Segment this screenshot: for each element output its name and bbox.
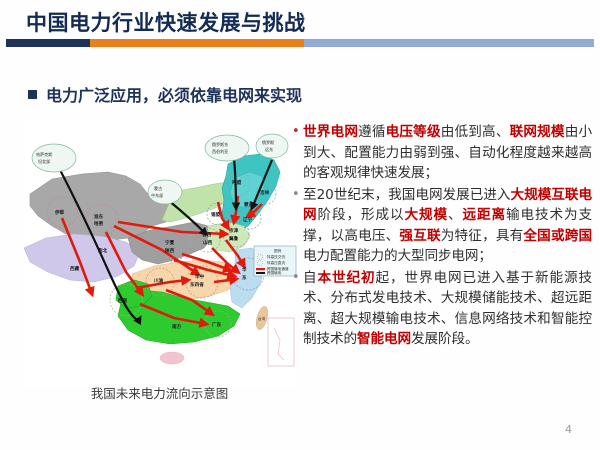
accent-bar-orange	[90, 39, 304, 47]
section-heading: 电力广泛应用，必须依靠电网来实现	[28, 82, 302, 106]
text-run: 、	[448, 207, 463, 223]
map-label-northwest: 西北	[98, 247, 108, 254]
map-label-southwest: 西南	[118, 297, 128, 304]
content-text-column: •世界电网遵循电压等级由低到高、联网规模由小到大、配置能力由弱到强、自动化程度越…	[292, 122, 592, 351]
map-label-kazakhstan2: 坦北部	[38, 158, 50, 164]
map-label-shanxi: 山西	[203, 239, 213, 246]
slide-root: 中国电力行业快速发展与挑战 电力广泛应用，必须依靠电网来实现	[0, 0, 600, 450]
map-label-tibet: 西藏	[70, 265, 80, 272]
legend-title: 图例	[274, 248, 282, 253]
paragraph-bullet-icon: •	[292, 122, 303, 184]
highlight-run: 世界电网	[303, 124, 358, 140]
map-label-liaoning: 辽宁	[243, 216, 253, 223]
section-heading-label: 电力广泛应用，必须依靠电网来实现	[46, 82, 302, 106]
callout-russia-siberia	[205, 135, 249, 161]
text-run: 至20世纪末，我国电网发展已进入	[303, 187, 511, 203]
content-paragraph: •自本世纪初起，世界电网已进入基于新能源技术、分布式发电技术、大规模储能技术、超…	[292, 268, 592, 350]
highlight-run: 强互联	[399, 228, 440, 244]
map-label-zhundong: 准东	[94, 213, 104, 220]
text-run: 由低到高、	[441, 124, 510, 140]
highlight-run: 联网规模	[510, 124, 565, 140]
china-power-flow-map: 台湾	[22, 122, 297, 387]
map-label-dongsisheng: 东四省	[190, 281, 204, 288]
map-legend: 图例 特高压交流 特高压直流 跨国输电通道 跨国输电	[254, 246, 296, 276]
highlight-run: 电压等级	[386, 124, 441, 140]
map-label-southern: 南方	[172, 323, 182, 330]
map-label-mengdong: 蒙东	[244, 201, 254, 208]
map-graphic: 台湾	[22, 122, 297, 387]
map-label-huazhong: 华中	[195, 273, 205, 280]
text-run: 电力配置能力的大型同步电网；	[303, 248, 492, 264]
map-label-jilu: 冀鲁	[229, 235, 239, 242]
legend-item-1: 特高压直流	[267, 260, 285, 265]
map-caption: 我国未来电力流向示意图	[22, 383, 297, 402]
callout-russia-fareast	[256, 134, 288, 158]
map-label-humeng: 呼盟	[232, 179, 242, 186]
map-label-ningxia: 宁夏	[165, 239, 175, 246]
highlight-run: 远距离	[463, 207, 507, 223]
map-label-guangdong: 广东	[212, 321, 222, 328]
highlight-run: 全国或跨国	[523, 228, 592, 244]
map-label-russia: 俄罗斯	[262, 139, 274, 145]
paragraph-bullet-icon: •	[292, 185, 303, 267]
paragraph-text: 至20世纪末，我国电网发展已进入大规模互联电网阶段，形成以大规模、远距离输电技术…	[303, 185, 592, 267]
content-paragraph: •至20世纪末，我国电网发展已进入大规模互联电网阶段，形成以大规模、远距离输电技…	[292, 185, 592, 267]
title-bar: 中国电力行业快速发展与挑战	[0, 0, 600, 50]
map-label-jinxi: 晋西	[202, 231, 212, 238]
map-label-shaanxi: 陕西	[165, 247, 175, 254]
map-label-huadong2: 东	[242, 274, 247, 281]
callout-kazakhstan	[32, 144, 76, 172]
highlight-run: 大规模	[405, 207, 449, 223]
highlight-run: 智能电网	[357, 331, 411, 347]
legend-item-3: 跨国输电	[267, 270, 282, 275]
map-label-huadong: 华	[242, 266, 247, 273]
map-label-hami: 哈密	[94, 220, 104, 227]
text-run: 遵循	[358, 124, 386, 140]
map-label-chuanyu: 川渝	[153, 277, 164, 284]
region-hainan	[160, 352, 184, 364]
map-label-fareast: 远东	[265, 146, 273, 152]
map-label-jingjin: 京津	[229, 227, 239, 234]
map-label-mongolia: 蒙古	[154, 185, 162, 191]
text-run: 发展阶段。	[411, 331, 478, 347]
map-label-taiwan: 台湾	[258, 316, 266, 321]
map-label-yili: 伊犁	[54, 209, 65, 216]
map-label-kazakhstan: 哈萨克斯	[36, 151, 52, 157]
text-run: 自	[303, 270, 318, 286]
highlight-run: 本世纪初	[318, 270, 376, 286]
paragraph-bullet-icon: •	[292, 268, 303, 350]
map-label-russia-east: 俄罗斯东	[212, 141, 228, 147]
accent-bar-navy	[6, 39, 90, 47]
text-run: 阶段，形成以	[318, 207, 405, 223]
map-label-ximeng: 锡盟	[211, 211, 221, 218]
legend-item-0: 特高压交流	[267, 254, 285, 259]
paragraph-text: 世界电网遵循电压等级由低到高、联网规模由小到大、配置能力由弱到强、自动化程度越来…	[303, 122, 592, 184]
map-label-siberia: 西伯利亚	[212, 148, 228, 154]
content-paragraph: •世界电网遵循电压等级由低到高、联网规模由小到大、配置能力由弱到强、自动化程度越…	[292, 122, 592, 184]
map-label-mongolia2: 中东部	[151, 192, 163, 198]
page-title: 中国电力行业快速发展与挑战	[26, 7, 306, 37]
map-label-jilin: 吉林	[260, 189, 270, 196]
callout-mongolia	[148, 180, 182, 204]
square-bullet-icon	[28, 90, 37, 99]
paragraph-text: 自本世纪初起，世界电网已进入基于新能源技术、分布式发电技术、大规模储能技术、超远…	[303, 268, 592, 350]
page-number: 4	[565, 423, 572, 436]
text-run: 为特征，具有	[441, 228, 524, 244]
south-china-sea-inset	[268, 318, 294, 366]
accent-bar-blue	[304, 39, 594, 47]
